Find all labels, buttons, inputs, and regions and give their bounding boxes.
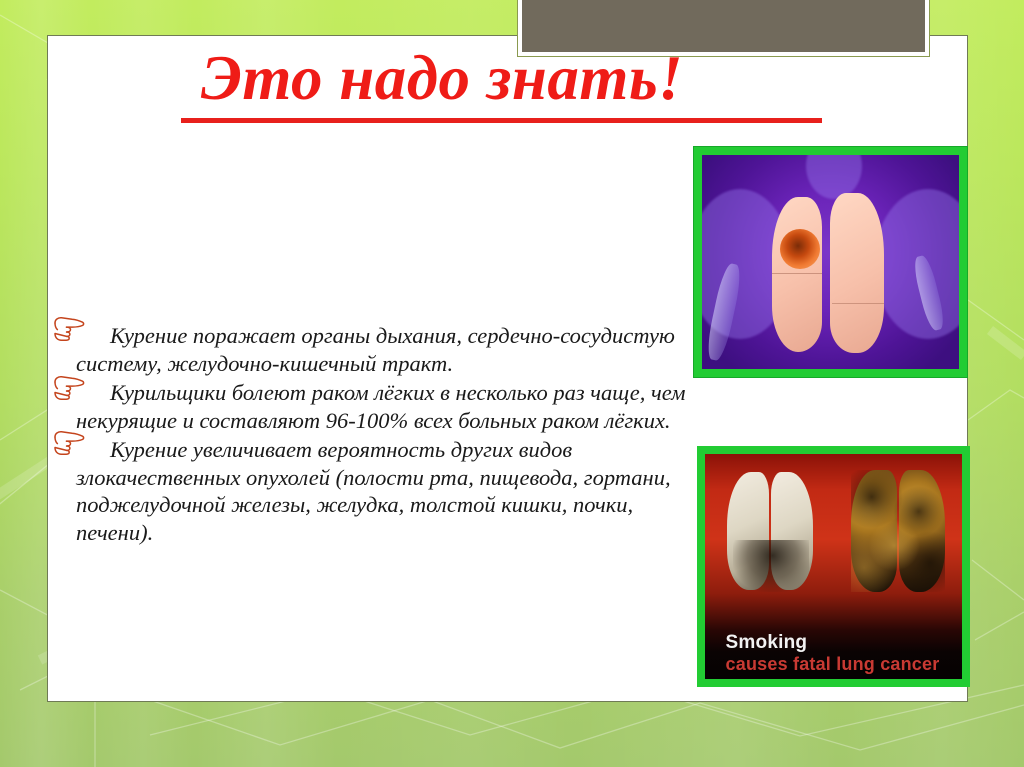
title-underline <box>181 118 822 123</box>
list-item: Курильщики болеют раком лёгких в несколь… <box>56 379 696 434</box>
anatomy-tumor-spot <box>780 229 820 269</box>
page-title: Это надо знать! <box>47 47 837 110</box>
comparison-caption: Smoking causes fatal lung cancer <box>726 632 957 675</box>
anatomy-lung-left <box>772 197 822 352</box>
anatomy-lung-fissure <box>772 273 822 274</box>
list-item-text: Курение увеличивает вероятность других в… <box>76 437 671 545</box>
pointing-hand-icon <box>52 314 86 344</box>
smoker-lung-texture <box>851 470 945 592</box>
anatomy-lung-right <box>830 193 884 353</box>
lungs-anatomy-image[interactable] <box>693 146 968 378</box>
list-item-text: Курение поражает органы дыхания, сердечн… <box>76 323 675 376</box>
lungs-comparison-image[interactable]: Smoking causes fatal lung cancer <box>697 446 970 687</box>
lungs-anatomy-inner <box>702 155 959 369</box>
pointing-hand-icon <box>52 428 86 458</box>
page-title-text: Это надо знать! <box>47 47 837 110</box>
list-item: Курение поражает органы дыхания, сердечн… <box>56 322 696 377</box>
list-item: Курение увеличивает вероятность других в… <box>56 436 696 546</box>
list-item-text: Курильщики болеют раком лёгких в несколь… <box>76 380 686 433</box>
anatomy-lung-fissure-2 <box>832 303 884 304</box>
caption-line-2: causes fatal lung cancer <box>726 653 957 675</box>
healthy-lung-shadow <box>733 540 809 592</box>
lungs-comparison-inner: Smoking causes fatal lung cancer <box>705 454 962 679</box>
caption-line-1: Smoking <box>726 632 957 653</box>
pointing-hand-icon <box>52 373 86 403</box>
bullet-list: Курение поражает органы дыхания, сердечн… <box>56 322 696 548</box>
slide: Это надо знать! Курение поражает органы … <box>0 0 1024 767</box>
